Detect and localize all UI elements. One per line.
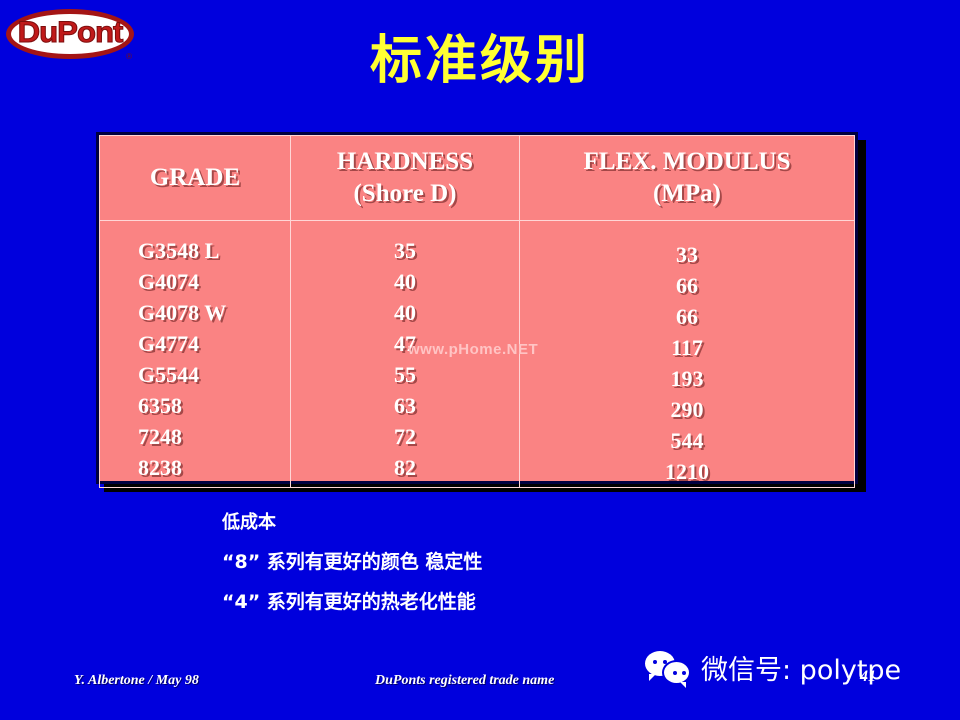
- grade-value: 6358: [138, 390, 290, 421]
- flex-modulus-value: 33: [520, 239, 854, 270]
- bullet-line-3: “4” 系列有更好的热老化性能: [222, 587, 482, 614]
- grade-value: 8238: [138, 452, 290, 483]
- page-title: 标准级别: [0, 30, 960, 92]
- bullet-list: 低成本 “8” 系列有更好的颜色 稳定性 “4” 系列有更好的热老化性能: [222, 508, 482, 627]
- column-header-flex-modulus-unit: (MPa): [520, 178, 854, 210]
- hardness-value: 40: [291, 266, 519, 297]
- grade-value: G5544: [138, 359, 290, 390]
- footer-author: Y. Albertone / May 98: [74, 673, 199, 689]
- table-header-row: GRADE HARDNESS (Shore D) FLEX. MODULUS (…: [100, 136, 855, 221]
- hardness-value-list: 3540404755637282: [291, 221, 519, 483]
- hardness-value: 47: [291, 328, 519, 359]
- grade-value: G4078 W: [138, 297, 290, 328]
- flex-modulus-value: 66: [520, 301, 854, 332]
- wechat-dot: [653, 660, 657, 664]
- grade-value: 7248: [138, 421, 290, 452]
- wechat-icon: [645, 651, 691, 685]
- wechat-dot: [682, 671, 686, 675]
- column-header-grade: GRADE: [100, 136, 291, 221]
- wechat-watermark: 微信号: polytpe: [645, 648, 901, 687]
- hardness-value: 55: [291, 359, 519, 390]
- table-body-row: G3548 LG4074G4078 WG4774G554463587248823…: [100, 221, 855, 488]
- flex-modulus-value: 544: [520, 425, 854, 456]
- flex-modulus-value-list: 3366661171932905441210: [520, 221, 854, 487]
- grade-value: G4774: [138, 328, 290, 359]
- hardness-value: 40: [291, 297, 519, 328]
- cell-hardness-list: 3540404755637282: [291, 221, 520, 488]
- bullet-line-2: “8” 系列有更好的颜色 稳定性: [222, 547, 482, 574]
- hardness-value: 82: [291, 452, 519, 483]
- column-header-hardness-main: HARDNESS: [337, 148, 473, 175]
- column-header-flex-modulus-main: FLEX. MODULUS: [584, 148, 791, 175]
- wechat-id-label: 微信号: polytpe: [701, 648, 901, 687]
- flex-modulus-value: 117: [520, 332, 854, 363]
- flex-modulus-value: 290: [520, 394, 854, 425]
- column-header-grade-main: GRADE: [150, 164, 240, 191]
- grade-value: G4074: [138, 266, 290, 297]
- grade-value-list: G3548 LG4074G4078 WG4774G554463587248823…: [100, 221, 290, 483]
- wechat-dot: [673, 671, 677, 675]
- footer-trademark-note: DuPonts registered trade name: [375, 673, 554, 689]
- flex-modulus-value: 193: [520, 363, 854, 394]
- slide-canvas: DuPont ® 标准级别 GRADE HARDNESS (Shore D) F…: [0, 0, 960, 720]
- flex-modulus-value: 1210: [520, 456, 854, 487]
- grades-table-container: GRADE HARDNESS (Shore D) FLEX. MODULUS (…: [96, 132, 858, 484]
- hardness-value: 63: [291, 390, 519, 421]
- column-header-hardness: HARDNESS (Shore D): [291, 136, 520, 221]
- cell-grade-list: G3548 LG4074G4078 WG4774G554463587248823…: [100, 221, 291, 488]
- column-header-flex-modulus: FLEX. MODULUS (MPa): [520, 136, 855, 221]
- bullet-line-1: 低成本: [222, 508, 482, 534]
- hardness-value: 35: [291, 235, 519, 266]
- grades-table: GRADE HARDNESS (Shore D) FLEX. MODULUS (…: [99, 135, 855, 488]
- cell-flex-modulus-list: 3366661171932905441210: [520, 221, 855, 488]
- wechat-dot: [663, 660, 667, 664]
- hardness-value: 72: [291, 421, 519, 452]
- grade-value: G3548 L: [138, 235, 290, 266]
- flex-modulus-value: 66: [520, 270, 854, 301]
- column-header-hardness-unit: (Shore D): [291, 178, 519, 210]
